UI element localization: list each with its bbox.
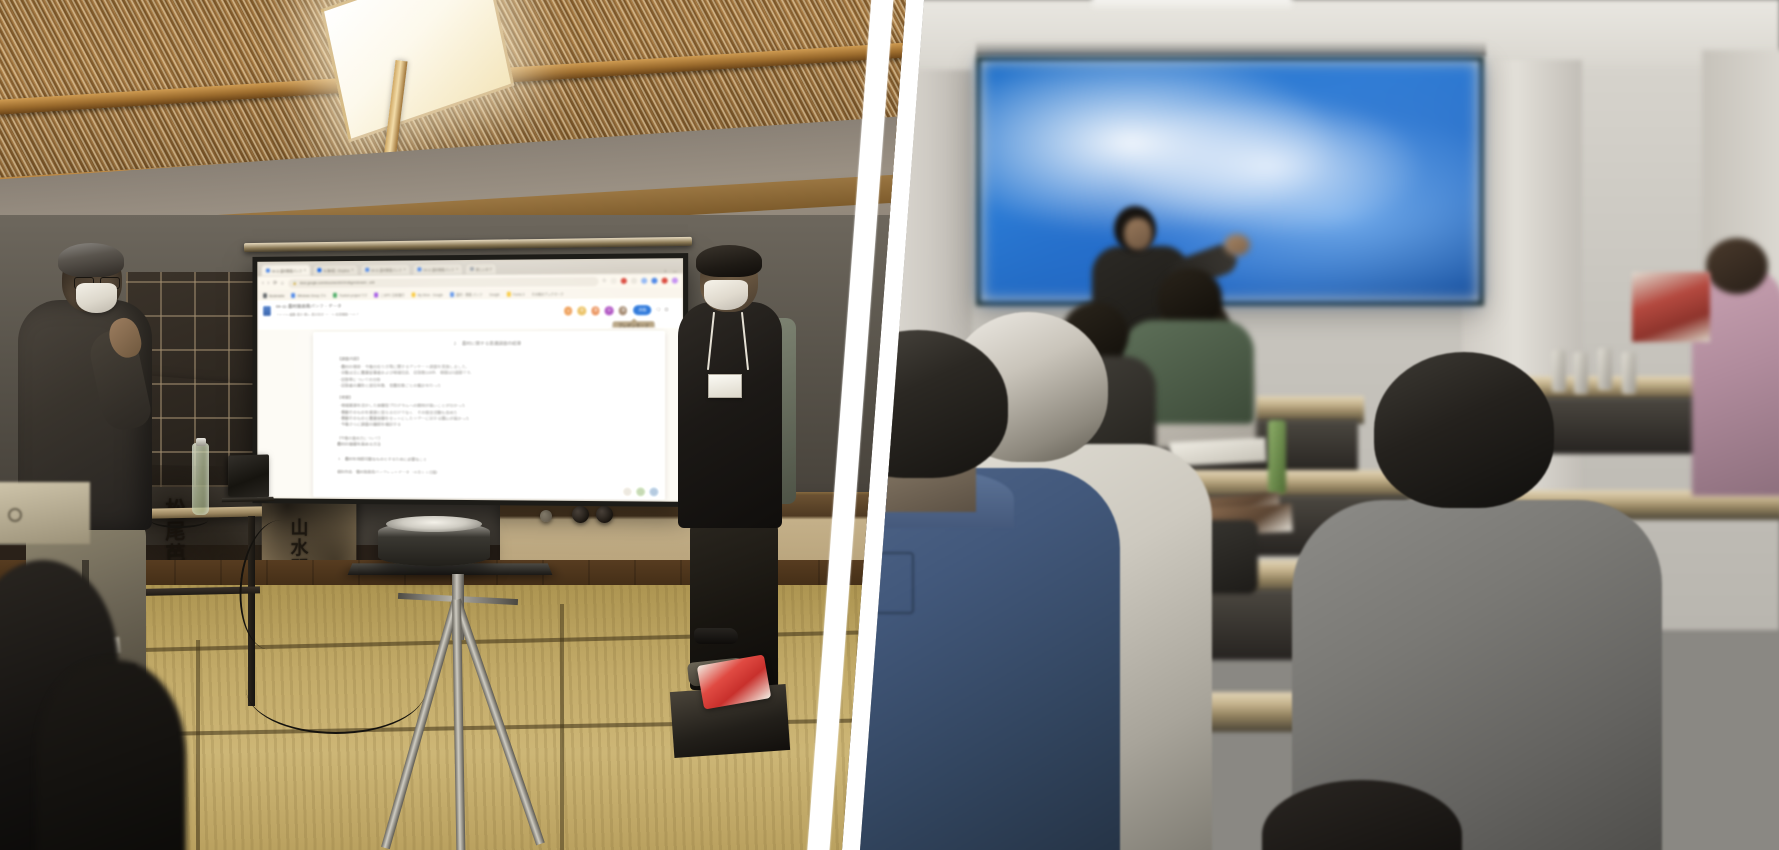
favicon-icon bbox=[266, 269, 270, 273]
bookmark-label: Windows Group クル bbox=[297, 293, 326, 298]
favicon-icon bbox=[470, 267, 474, 271]
extension-icon[interactable] bbox=[641, 278, 647, 284]
profile-icon[interactable] bbox=[672, 278, 678, 284]
close-icon[interactable]: × bbox=[404, 267, 406, 271]
green-beverage-bottle bbox=[1268, 420, 1286, 494]
bookmark-item[interactable]: Forms 3 bbox=[507, 292, 525, 296]
bookmark-label: Google bbox=[489, 292, 499, 296]
bookmark-label: 農村・発表 パンフ bbox=[456, 292, 482, 297]
bookmark-icon bbox=[333, 293, 337, 297]
projection-screen: 04-11 農村発表パンフ × SL第4回 - Dropbox × 04-11 … bbox=[252, 253, 688, 507]
bookmark-item[interactable]: Tourism project ワク bbox=[333, 293, 367, 298]
favicon-icon bbox=[417, 267, 421, 271]
bookmark-label: その他のブックマーク bbox=[531, 291, 563, 296]
address-bar[interactable]: 🔒 docs.google.com/document/d/1Kv8qpmdvrw… bbox=[288, 277, 598, 288]
attendee-grey-shirt-head bbox=[1374, 352, 1554, 508]
power-cable bbox=[246, 644, 426, 734]
projector-lens-top bbox=[386, 516, 482, 532]
display-bottle bbox=[1552, 350, 1566, 392]
collaborator-avatar[interactable]: ヨ bbox=[618, 305, 629, 316]
extension-icon[interactable] bbox=[621, 278, 627, 284]
collaborator-avatar[interactable]: T bbox=[563, 305, 574, 316]
presenter-right-hair bbox=[696, 245, 762, 277]
comment-icon[interactable]: 🗨 bbox=[655, 307, 661, 313]
bookmark-label: Forms 3 bbox=[513, 292, 525, 296]
bookmark-icon bbox=[374, 293, 378, 297]
bookmark-icon bbox=[450, 292, 454, 296]
presenter-hand bbox=[1224, 234, 1250, 256]
browser-tab[interactable]: 新しいタブ bbox=[465, 263, 497, 275]
extension-icon[interactable] bbox=[631, 278, 637, 284]
collaborator-avatar[interactable]: シ bbox=[604, 305, 615, 316]
collaborator-avatar[interactable]: カ bbox=[590, 305, 601, 316]
foreground-attendee bbox=[36, 660, 186, 850]
browser-tab[interactable]: 04-11 農村発表パンフ × bbox=[261, 264, 311, 276]
docs-title-block: 04-11 農村発表用パンフ・データ ファイル 編集 表示 挿入 表示形式 ツー… bbox=[276, 304, 359, 317]
name-badge bbox=[708, 374, 742, 398]
document-closing-line: 資料作成／農村発表用パンフレットデータ（４月１１日版） bbox=[337, 469, 640, 477]
drive-icon bbox=[411, 293, 415, 297]
ceiling-light bbox=[1092, 0, 1292, 8]
tatami-seam bbox=[560, 604, 564, 850]
collaborator-avatar[interactable]: ミ bbox=[577, 305, 588, 316]
document-section-title: 【考察】 bbox=[337, 395, 640, 401]
projected-browser-ui: 04-11 農村発表パンフ × SL第4回 - Dropbox × 04-11 … bbox=[257, 258, 683, 502]
document-section-title: 【調査内容】 bbox=[337, 356, 640, 362]
tab-title: 04-11 農村発表パンフ bbox=[371, 267, 402, 272]
tab-title: SL第4回 - Dropbox bbox=[323, 267, 349, 272]
power-cable bbox=[150, 512, 208, 528]
document-bullet-line: ３．農村を持続可能なものとするために必要なこと bbox=[337, 456, 640, 464]
close-icon[interactable]: × bbox=[304, 268, 306, 272]
docs-menubar[interactable]: ファイル 編集 表示 挿入 表示形式 ツール 拡張機能 ヘルプ bbox=[276, 312, 359, 317]
browser-tab[interactable]: 04-11 農村発表パンフ × bbox=[412, 263, 463, 275]
product-display-board bbox=[1632, 272, 1710, 342]
tatami-seam bbox=[196, 640, 200, 850]
document-line: 農村の価値を高める方法 bbox=[337, 441, 640, 449]
forward-icon[interactable]: › bbox=[268, 280, 270, 286]
document-line: ・回答者の属性と居住年数、営農形態ごとの集計を行った bbox=[337, 383, 640, 389]
ornament bbox=[596, 506, 613, 523]
bookmark-icon bbox=[507, 292, 511, 296]
bookmark-label: Tourism project ワク bbox=[339, 293, 367, 298]
bookmark-item[interactable]: Google bbox=[489, 292, 499, 296]
extension-icon[interactable] bbox=[611, 278, 617, 284]
tab-title: 04-11 農村発表パンフ bbox=[272, 268, 302, 273]
extension-icon[interactable] bbox=[662, 278, 668, 284]
document-heading: ２．農村に関する意識調査の結果 bbox=[337, 341, 640, 348]
google-docs-icon[interactable] bbox=[263, 306, 271, 316]
attendee-pink-head bbox=[1706, 238, 1768, 294]
display-bottle bbox=[1598, 348, 1612, 390]
laptop-base bbox=[222, 497, 275, 502]
bookmark-icon bbox=[263, 294, 267, 298]
close-icon[interactable]: × bbox=[352, 268, 354, 272]
browser-tab[interactable]: SL第4回 - Dropbox × bbox=[313, 264, 359, 276]
left-photo: 松尾芭蕉 山水閑静 04-11 農村発表パンフ bbox=[0, 0, 925, 850]
presenter-right-shoe bbox=[694, 628, 738, 644]
share-button[interactable]: 共有 bbox=[633, 305, 651, 315]
back-icon[interactable]: ‹ bbox=[262, 280, 264, 286]
lock-icon: 🔒 bbox=[293, 281, 297, 285]
document-line: ・今後さらに調査の継続を検討する bbox=[337, 422, 640, 429]
laptop bbox=[222, 455, 270, 517]
ornament bbox=[540, 510, 552, 522]
bookmark-overflow[interactable]: その他のブックマーク bbox=[531, 291, 563, 296]
docs-header-actions: T ミ カ シ ヨ 共有 🗨 ⊡ ⋯ bbox=[563, 305, 677, 316]
lanyard bbox=[706, 312, 750, 378]
home-icon[interactable]: ⌂ bbox=[281, 280, 284, 286]
water-bottle bbox=[192, 443, 209, 515]
more-icon[interactable]: ⋯ bbox=[672, 307, 677, 313]
presenter-face bbox=[1124, 218, 1152, 250]
presenter-left-face-mask bbox=[76, 283, 117, 313]
document-page[interactable]: ２．農村に関する意識調査の結果 【調査内容】 ・農村の現状・今後の在り方等に関す… bbox=[314, 331, 665, 499]
laptop-lid bbox=[228, 454, 269, 497]
bookmark-label: Bookmarks bbox=[269, 294, 284, 298]
info-chip-icon[interactable] bbox=[649, 487, 658, 496]
docs-canvas[interactable]: ２．農村に関する意識調査の結果 【調査内容】 ・農村の現状・今後の在り方等に関す… bbox=[257, 327, 683, 502]
tab-title: 新しいタブ bbox=[476, 266, 492, 271]
bookmark-item[interactable]: Bookmarks bbox=[263, 294, 284, 298]
bookmark-item[interactable]: 農村・発表 パンフ bbox=[450, 292, 482, 297]
present-icon[interactable]: ⊡ bbox=[664, 307, 668, 313]
bookmark-label: このPC 日本旅行 bbox=[380, 292, 404, 297]
presenter-left-hair bbox=[58, 243, 124, 277]
tab-title: 04-11 農村発表パンフ bbox=[423, 267, 454, 272]
document-title[interactable]: 04-11 農村発表用パンフ・データ bbox=[276, 304, 359, 310]
docs-status-chips[interactable] bbox=[623, 487, 659, 496]
explore-chip-icon[interactable] bbox=[636, 487, 645, 496]
screen-roller-housing bbox=[976, 42, 1486, 56]
right-photo bbox=[762, 0, 1779, 850]
bookmark-item[interactable]: My Drive - Google bbox=[411, 293, 443, 297]
box-logo-icon bbox=[8, 508, 22, 522]
reload-icon[interactable]: ⟳ bbox=[273, 280, 277, 286]
bookmark-item[interactable]: Windows Group クル bbox=[291, 293, 326, 298]
browser-tab[interactable]: 04-11 農村発表パンフ × bbox=[360, 263, 410, 275]
photo-collage: 松尾芭蕉 山水閑静 04-11 農村発表パンフ bbox=[0, 0, 1779, 850]
extension-icon[interactable] bbox=[651, 278, 657, 284]
bookmark-label: My Drive - Google bbox=[418, 293, 443, 297]
presenter-right-face-mask bbox=[704, 280, 748, 310]
close-icon[interactable]: × bbox=[456, 267, 458, 271]
bookmark-item[interactable]: このPC 日本旅行 bbox=[374, 292, 404, 297]
accessibility-chip-icon[interactable] bbox=[623, 487, 632, 496]
ornament bbox=[572, 506, 589, 523]
display-bottle bbox=[1574, 352, 1588, 394]
favicon-icon bbox=[365, 268, 369, 272]
favicon-icon bbox=[317, 268, 321, 272]
address-bar-url: docs.google.com/document/d/1Kv8qpmdvrweh… bbox=[300, 281, 375, 285]
star-icon[interactable]: ☆ bbox=[602, 278, 607, 284]
bottle-cap bbox=[196, 438, 206, 446]
bookmark-icon bbox=[291, 293, 295, 297]
display-bottle bbox=[1622, 352, 1636, 394]
